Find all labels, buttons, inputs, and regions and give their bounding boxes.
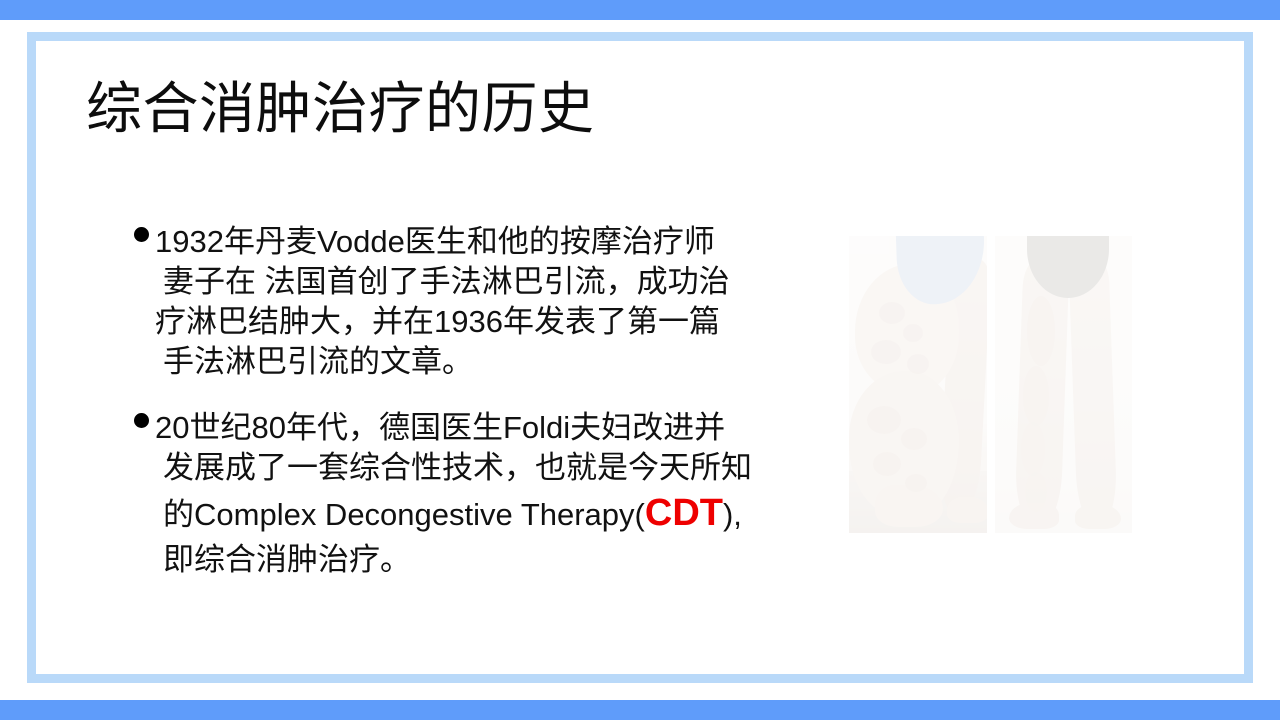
bullet-2-line-2: 发展成了一套综合性技术，也就是今天所知 — [155, 448, 814, 488]
lymphedema-leg-severe-photo — [849, 236, 987, 533]
photo-group — [849, 236, 1132, 533]
bullet-2-line-1: 20世纪80年代，德国医生Foldi夫妇改进并 — [155, 408, 814, 448]
bullet-2-line-4: 即综合消肿治疗。 — [155, 540, 814, 580]
bullet-1-line-3: 疗淋巴结肿大，并在1936年发表了第一篇 — [155, 302, 814, 342]
bullet-1-line-2: 妻子在 法国首创了手法淋巴引流，成功治 — [155, 262, 814, 302]
bullet-2-line-3-prefix: 的Complex Decongestive Therapy( — [163, 497, 645, 532]
top-accent-bar — [0, 0, 1280, 20]
bullet-2-line-3-suffix: ), — [723, 497, 742, 532]
lymphedema-both-legs-photo — [995, 236, 1132, 533]
bullet-item-1: 1932年丹麦Vodde医生和他的按摩治疗师 妻子在 法国首创了手法淋巴引流，成… — [134, 222, 814, 382]
bullet-dot-icon — [134, 413, 149, 428]
photo-left-content — [849, 236, 987, 533]
page-title: 综合消肿治疗的历史 — [86, 78, 595, 141]
bullet-2-line-3: 的Complex Decongestive Therapy(CDT), — [155, 488, 814, 540]
bullet-item-2: 20世纪80年代，德国医生Foldi夫妇改进并 发展成了一套综合性技术，也就是今… — [134, 408, 814, 580]
bullet-1-line-1: 1932年丹麦Vodde医生和他的按摩治疗师 — [155, 222, 814, 262]
body-content: 1932年丹麦Vodde医生和他的按摩治疗师 妻子在 法国首创了手法淋巴引流，成… — [134, 222, 814, 580]
bullet-2-text: 20世纪80年代，德国医生Foldi夫妇改进并 发展成了一套综合性技术，也就是今… — [134, 408, 814, 580]
bullet-1-line-4: 手法淋巴引流的文章。 — [155, 342, 814, 382]
bottom-accent-bar — [0, 700, 1280, 720]
slide: 综合消肿治疗的历史 1932年丹麦Vodde医生和他的按摩治疗师 妻子在 法国首… — [0, 0, 1280, 720]
photo-right-content — [995, 236, 1132, 533]
bullet-dot-icon — [134, 227, 149, 242]
cdt-highlight: CDT — [645, 492, 723, 534]
bullet-1-text: 1932年丹麦Vodde医生和他的按摩治疗师 妻子在 法国首创了手法淋巴引流，成… — [134, 222, 814, 382]
